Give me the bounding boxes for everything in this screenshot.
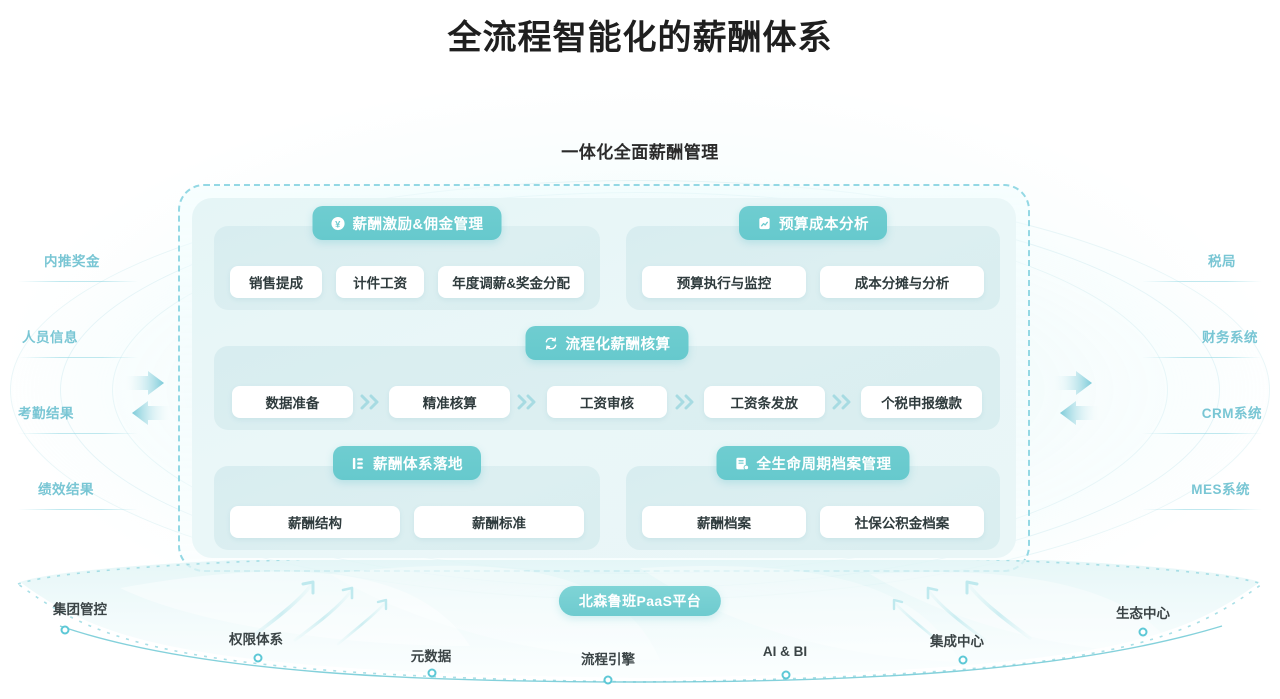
platform-node-label[interactable]: AI & BI (763, 644, 807, 659)
right-target-item-3: CRM系统 (1142, 398, 1262, 474)
page-title: 全流程智能化的薪酬体系 (0, 10, 1280, 59)
infographic-canvas: 全流程智能化的薪酬体系 一体化全面薪酬管理 内推奖金 人员信息 考勤结果 绩效结… (0, 0, 1280, 699)
platform-node-label[interactable]: 流程引擎 (581, 648, 635, 668)
right-target-label-4: MES系统 (1191, 482, 1250, 497)
underline-divider (1142, 509, 1262, 510)
hierarchy-tree-icon (351, 456, 366, 471)
double-chevron-right-icon (353, 392, 389, 412)
yen-coin-icon: ¥ (331, 216, 346, 231)
chip-item[interactable]: 薪酬标准 (414, 506, 584, 538)
right-target-item-1: 税局 (1142, 246, 1262, 322)
card-header-compensation-incentive: ¥ 薪酬激励&佣金管理 (313, 206, 502, 240)
platform-node-dot-icon (61, 626, 70, 635)
chip-item[interactable]: 成本分摊与分析 (820, 266, 984, 298)
card-item-list: 销售提成 计件工资 年度调薪&奖金分配 (214, 266, 600, 298)
underline-divider (18, 357, 138, 358)
chip-item[interactable]: 薪酬结构 (230, 506, 400, 538)
left-source-label-3: 考勤结果 (18, 406, 74, 421)
card-header-payroll-calculation-flow: 流程化薪酬核算 (526, 326, 689, 360)
left-source-item-4: 绩效结果 (18, 474, 138, 550)
flow-step[interactable]: 个税申报缴款 (861, 386, 982, 418)
left-source-label-1: 内推奖金 (44, 254, 100, 269)
platform-node-dot-icon (1139, 628, 1148, 637)
platform-node-dot-icon (428, 669, 437, 678)
chip-item[interactable]: 计件工资 (336, 266, 424, 298)
flow-step[interactable]: 精准核算 (389, 386, 510, 418)
underline-divider (18, 281, 138, 282)
paas-platform-band (0, 560, 1280, 699)
platform-node-dot-icon (254, 654, 263, 663)
chip-item[interactable]: 预算执行与监控 (642, 266, 806, 298)
paas-platform-pill[interactable]: 北森鲁班PaaS平台 (559, 586, 721, 616)
card-item-list: 薪酬结构 薪酬标准 (214, 506, 600, 538)
platform-node-label[interactable]: 集团管控 (53, 598, 107, 618)
underline-divider (1142, 433, 1262, 434)
double-chevron-right-icon (510, 392, 546, 412)
card-title-text: 预算成本分析 (779, 213, 869, 234)
platform-node-dot-icon (782, 671, 791, 680)
card-item-list: 薪酬档案 社保公积金档案 (626, 506, 1000, 538)
double-chevron-right-icon (667, 392, 703, 412)
card-budget-cost-analysis[interactable]: 预算成本分析 预算执行与监控 成本分摊与分析 (626, 226, 1000, 310)
svg-text:¥: ¥ (335, 219, 341, 229)
underline-divider (1142, 281, 1262, 282)
card-header-budget-cost-analysis: 预算成本分析 (739, 206, 887, 240)
two-way-exchange-arrows-icon (1046, 370, 1106, 436)
clipboard-chart-icon (757, 216, 772, 231)
refresh-cycle-icon (544, 336, 559, 351)
platform-node-label[interactable]: 集成中心 (930, 630, 984, 650)
platform-node-label[interactable]: 元数据 (411, 645, 452, 665)
card-compensation-structure[interactable]: 薪酬体系落地 薪酬结构 薪酬标准 (214, 466, 600, 550)
card-title-text: 薪酬体系落地 (373, 453, 463, 474)
card-header-compensation-structure: 薪酬体系落地 (333, 446, 481, 480)
right-integration-targets: 税局 财务系统 CRM系统 MES系统 (1142, 246, 1262, 550)
platform-node-label[interactable]: 生态中心 (1116, 602, 1170, 622)
card-payroll-calculation-flow[interactable]: 流程化薪酬核算 数据准备 精准核算 工资审核 工资条发放 个税申报缴款 (214, 346, 1000, 430)
platform-node-dot-icon (604, 676, 613, 685)
card-title-text: 全生命周期档案管理 (757, 453, 892, 474)
left-source-item-1: 内推奖金 (18, 246, 138, 322)
card-lifecycle-archive[interactable]: 全生命周期档案管理 薪酬档案 社保公积金档案 (626, 466, 1000, 550)
right-target-item-4: MES系统 (1142, 474, 1262, 550)
two-way-exchange-arrows-icon (118, 370, 178, 436)
right-target-item-2: 财务系统 (1142, 322, 1262, 398)
card-title-text: 流程化薪酬核算 (566, 333, 671, 354)
underline-divider (18, 509, 138, 510)
right-target-label-2: 财务系统 (1202, 330, 1258, 345)
card-header-lifecycle-archive: 全生命周期档案管理 (717, 446, 910, 480)
card-item-list: 预算执行与监控 成本分摊与分析 (626, 266, 1000, 298)
flow-step[interactable]: 工资条发放 (704, 386, 825, 418)
card-title-text: 薪酬激励&佣金管理 (353, 213, 484, 234)
page-subtitle: 一体化全面薪酬管理 (0, 138, 1280, 163)
underline-divider (1142, 357, 1262, 358)
flow-step[interactable]: 数据准备 (232, 386, 353, 418)
chip-item[interactable]: 社保公积金档案 (820, 506, 984, 538)
left-source-label-4: 绩效结果 (38, 482, 94, 497)
left-source-label-2: 人员信息 (22, 330, 78, 345)
right-target-label-1: 税局 (1208, 254, 1236, 269)
document-archive-icon (735, 456, 750, 471)
chip-item[interactable]: 薪酬档案 (642, 506, 806, 538)
double-chevron-right-icon (825, 392, 861, 412)
flow-step[interactable]: 工资审核 (547, 386, 668, 418)
chip-item[interactable]: 年度调薪&奖金分配 (438, 266, 584, 298)
chip-item[interactable]: 销售提成 (230, 266, 322, 298)
card-compensation-incentive[interactable]: ¥ 薪酬激励&佣金管理 销售提成 计件工资 年度调薪&奖金分配 (214, 226, 600, 310)
platform-node-dot-icon (959, 656, 968, 665)
platform-node-label[interactable]: 权限体系 (229, 628, 283, 648)
payroll-flow-steps: 数据准备 精准核算 工资审核 工资条发放 个税申报缴款 (214, 386, 1000, 418)
right-target-label-3: CRM系统 (1202, 406, 1262, 421)
